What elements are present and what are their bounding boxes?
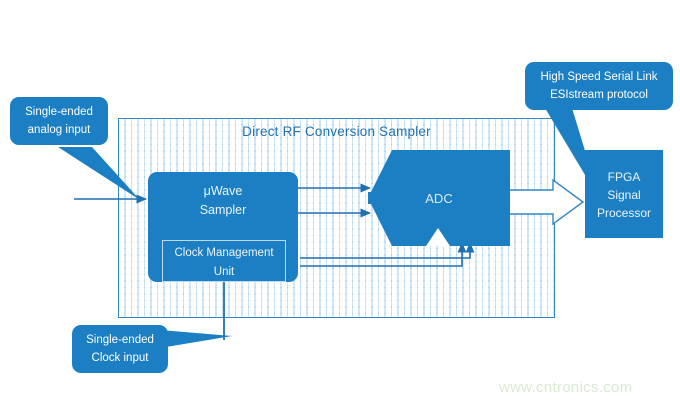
callout-analog-line2: analog input — [18, 121, 100, 139]
analog-callout-tail — [58, 147, 140, 200]
watermark: www.cntronics.com — [499, 379, 632, 396]
callout-clock-line1: Single-ended — [80, 331, 160, 349]
callout-serial-link: High Speed Serial Link ESIstream protoco… — [525, 62, 673, 110]
callout-analog-input: Single-ended analog input — [10, 97, 108, 145]
callout-clock-input: Single-ended Clock input — [72, 325, 168, 373]
serial-callout-tail — [545, 108, 600, 200]
callout-analog-line1: Single-ended — [18, 103, 100, 121]
diagram-canvas: Direct RF Conversion Sampler ADC μWave S… — [0, 0, 680, 407]
clock-callout-tail — [160, 330, 232, 348]
callout-serial-line1: High Speed Serial Link — [533, 68, 665, 86]
callout-clock-line2: Clock input — [80, 349, 160, 367]
callout-serial-line2: ESIstream protocol — [533, 86, 665, 104]
